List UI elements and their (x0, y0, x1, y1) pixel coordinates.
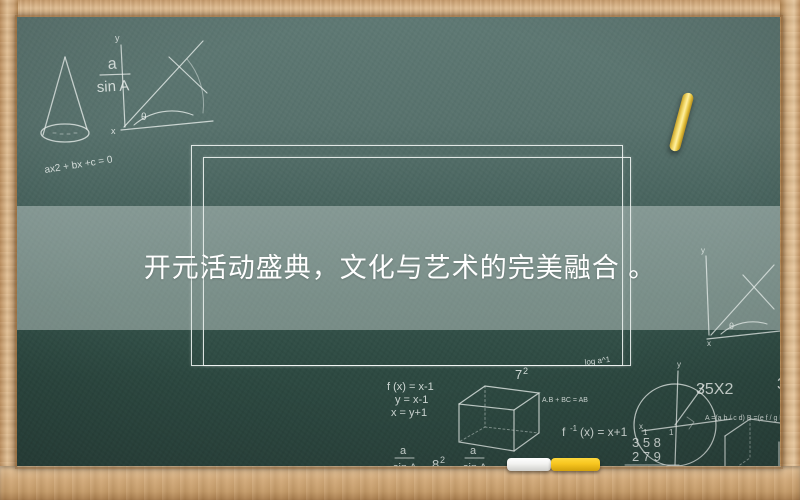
svg-text:(x) = x+1: (x) = x+1 (580, 425, 628, 439)
frame-top-rail (0, 0, 800, 18)
svg-text:sin A: sin A (463, 462, 488, 466)
matrix-label-3x2: 3X2 (777, 376, 780, 393)
svg-text:a: a (107, 56, 117, 73)
svg-text:a: a (470, 445, 477, 457)
svg-text:y: y (677, 360, 681, 369)
svg-text:sin A: sin A (393, 462, 418, 466)
chalkboard-surface: a sin A ax2 + bx +c = 0 y x θ (17, 17, 780, 466)
cube-drawing-center (459, 386, 539, 451)
svg-text:y: y (115, 33, 120, 43)
svg-text:x: x (707, 339, 711, 348)
yellow-chalk-stick-tray (551, 458, 600, 471)
inverse-function: f -1 (x) = x+1 (562, 424, 628, 439)
banner-title-container: 开元活动盛典，文化与艺术的完美融合 。 (17, 206, 780, 330)
matrix-expression: A =(a b / c d) B =(e f / g h) AB =(i j /… (705, 415, 780, 422)
svg-text:x: x (639, 422, 643, 431)
svg-text:f (x) = x-1: f (x) = x-1 (387, 381, 434, 393)
svg-text:7: 7 (515, 367, 522, 382)
exponent-seven: 7 2 (515, 366, 528, 382)
law-of-sines-bottom-1: a sin A (393, 445, 418, 466)
eight-squared: 8 2 (432, 455, 445, 466)
svg-text:8: 8 (432, 457, 439, 466)
svg-text:-1: -1 (570, 424, 578, 433)
svg-text:f: f (562, 425, 566, 439)
addition-column: 3 5 8 2 7 9 6 3 7 1 1 (625, 428, 679, 466)
law-of-sines-bottom-2: a sin A (463, 445, 488, 466)
circle-angle-diagram: x y (634, 360, 732, 466)
white-chalk-stick-tray (507, 458, 551, 471)
svg-text:3 5 8: 3 5 8 (632, 435, 661, 450)
chalkboard-banner-image: a sin A ax2 + bx +c = 0 y x θ (0, 0, 800, 500)
svg-text:y = x-1: y = x-1 (395, 394, 428, 406)
frame-right-rail (780, 0, 800, 500)
quadratic-equation: ax2 + bx +c = 0 (44, 154, 114, 176)
svg-text:2: 2 (440, 455, 445, 465)
function-equations: f (x) = x-1 y = x-1 x = y+1 (387, 381, 434, 419)
cone-drawing (41, 57, 89, 142)
svg-text:x: x (111, 126, 116, 136)
svg-text:2: 2 (523, 366, 528, 376)
svg-text:2 7 9: 2 7 9 (632, 449, 661, 464)
svg-text:x = y+1: x = y+1 (391, 407, 427, 419)
svg-text:a: a (400, 445, 407, 457)
cube-drawing-right (725, 419, 780, 466)
frame-bottom-ledge (0, 466, 800, 500)
svg-text:1: 1 (669, 428, 674, 437)
svg-text:θ: θ (141, 112, 147, 123)
angle-diagram-top-left: y x θ (111, 33, 213, 136)
banner-title-text: 开元活动盛典，文化与艺术的完美融合 。 (144, 252, 657, 284)
vector-expression: A.B + BC = AB (542, 397, 588, 404)
svg-text:sin A: sin A (96, 77, 129, 96)
law-of-sines-top: a sin A (96, 56, 130, 96)
matrix-label-35x2: 35X2 (696, 381, 733, 398)
frame-left-rail (0, 0, 18, 500)
svg-text:1: 1 (643, 428, 648, 437)
